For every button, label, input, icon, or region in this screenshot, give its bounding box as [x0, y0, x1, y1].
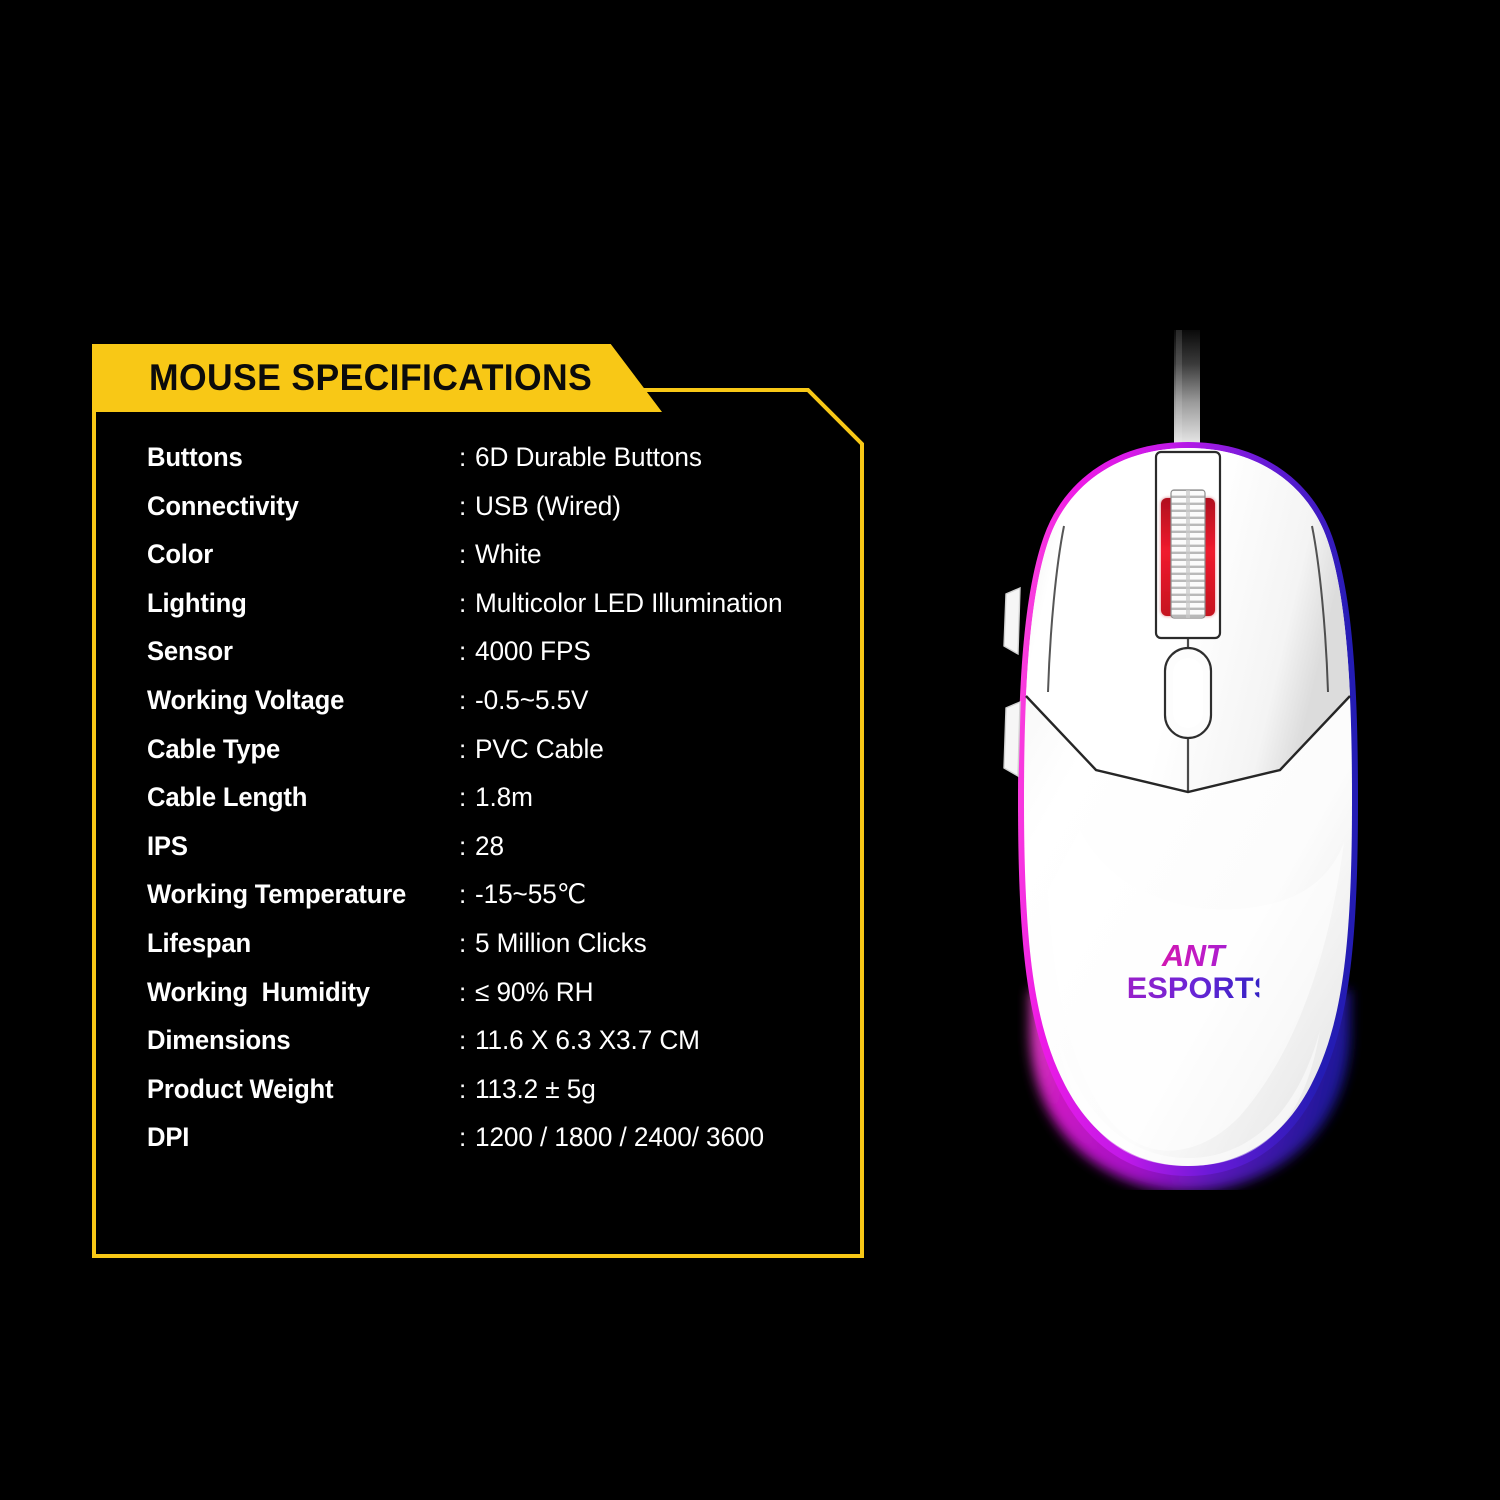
spec-label: Working Voltage	[147, 685, 443, 716]
spec-row: Working Temperature:-15~55℃	[147, 879, 847, 928]
spec-label: Lighting	[147, 588, 443, 619]
spec-value: -0.5~5.5V	[475, 685, 588, 716]
spec-separator: :	[459, 588, 475, 619]
spec-value: 1.8m	[475, 782, 533, 813]
spec-row: DPI:1200 / 1800 / 2400/ 3600	[147, 1122, 847, 1171]
panel-header-banner: MOUSE SPECIFICATIONS	[92, 344, 662, 412]
spec-value: 5 Million Clicks	[475, 928, 647, 959]
spec-row: IPS:28	[147, 831, 847, 880]
spec-value: 6D Durable Buttons	[475, 442, 702, 473]
spec-separator: :	[459, 782, 475, 813]
spec-separator: :	[459, 1074, 475, 1105]
spec-value: 113.2 ± 5g	[475, 1074, 596, 1105]
spec-row: Sensor:4000 FPS	[147, 636, 847, 685]
spec-row: Product Weight:113.2 ± 5g	[147, 1074, 847, 1123]
product-photo-mouse: ANT ESPORTS	[960, 330, 1420, 1190]
spec-value: 1200 / 1800 / 2400/ 3600	[475, 1122, 764, 1153]
spec-label: Cable Length	[147, 782, 443, 813]
spec-value: Multicolor LED Illumination	[475, 588, 782, 619]
spec-label: Lifespan	[147, 928, 443, 959]
spec-row: Connectivity:USB (Wired)	[147, 491, 847, 540]
spec-separator: :	[459, 734, 475, 765]
spec-label: Working Humidity	[147, 977, 443, 1008]
spec-value: 4000 FPS	[475, 636, 591, 667]
spec-row: Working Humidity:≤ 90% RH	[147, 977, 847, 1026]
mouse-specifications-panel: MOUSE SPECIFICATIONS Buttons:6D Durable …	[92, 340, 864, 1258]
spec-row: Lifespan:5 Million Clicks	[147, 928, 847, 977]
spec-row: Buttons:6D Durable Buttons	[147, 442, 847, 491]
spec-separator: :	[459, 977, 475, 1008]
spec-label: Sensor	[147, 636, 443, 667]
spec-value: USB (Wired)	[475, 491, 621, 522]
mouse-illustration	[960, 330, 1420, 1190]
spec-value: White	[475, 539, 541, 570]
spec-separator: :	[459, 831, 475, 862]
spec-separator: :	[459, 1122, 475, 1153]
spec-row: Dimensions:11.6 X 6.3 X3.7 CM	[147, 1025, 847, 1074]
spec-row: Cable Length:1.8m	[147, 782, 847, 831]
spec-value: PVC Cable	[475, 734, 604, 765]
spec-separator: :	[459, 442, 475, 473]
specifications-table: Buttons:6D Durable ButtonsConnectivity:U…	[147, 442, 847, 1171]
spec-value: 11.6 X 6.3 X3.7 CM	[475, 1025, 700, 1056]
spec-label: Working Temperature	[147, 879, 443, 910]
spec-separator: :	[459, 685, 475, 716]
spec-label: Connectivity	[147, 491, 443, 522]
spec-label: IPS	[147, 831, 443, 862]
spec-separator: :	[459, 636, 475, 667]
spec-row: Color:White	[147, 539, 847, 588]
spec-label: Dimensions	[147, 1025, 443, 1056]
spec-row: Working Voltage:-0.5~5.5V	[147, 685, 847, 734]
spec-value: -15~55℃	[475, 879, 586, 910]
spec-separator: :	[459, 539, 475, 570]
spec-row: Cable Type:PVC Cable	[147, 734, 847, 783]
spec-value: 28	[475, 831, 504, 862]
spec-row: Lighting:Multicolor LED Illumination	[147, 588, 847, 637]
spec-separator: :	[459, 879, 475, 910]
spec-label: DPI	[147, 1122, 443, 1153]
spec-label: Color	[147, 539, 443, 570]
spec-label: Cable Type	[147, 734, 443, 765]
spec-separator: :	[459, 1025, 475, 1056]
page-title: MOUSE SPECIFICATIONS	[149, 357, 592, 399]
spec-separator: :	[459, 928, 475, 959]
spec-separator: :	[459, 491, 475, 522]
spec-label: Buttons	[147, 442, 443, 473]
spec-label: Product Weight	[147, 1074, 443, 1105]
spec-value: ≤ 90% RH	[475, 977, 593, 1008]
